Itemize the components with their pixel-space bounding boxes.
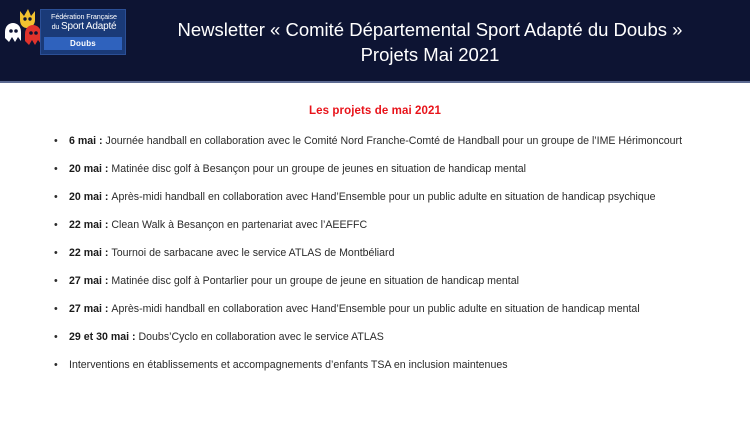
- list-item: • 20 mai : Matinée disc golf à Besançon …: [48, 155, 738, 183]
- logo-sport-adapte-line: du Sport Adapté: [44, 21, 124, 33]
- list-item: • Interventions en établissements et acc…: [48, 351, 738, 379]
- list-item-text: Matinée disc golf à Besançon pour un gro…: [111, 163, 526, 175]
- bullet-marker-icon: •: [54, 155, 62, 183]
- list-item-text: Journée handball en collaboration avec l…: [106, 135, 683, 147]
- bullet-marker-icon: •: [54, 351, 62, 379]
- list-item-separator: :: [129, 331, 138, 343]
- list-item: • 22 mai : Tournoi de sarbacane avec le …: [48, 239, 738, 267]
- list-item-date: 6 mai: [69, 135, 96, 147]
- list-item-text: Matinée disc golf à Pontarlier pour un g…: [111, 275, 519, 287]
- list-item-separator: :: [102, 163, 111, 175]
- list-item-date: 29 et 30 mai: [69, 331, 129, 343]
- list-item-separator: :: [102, 191, 111, 203]
- page-title: Newsletter « Comité Départemental Sport …: [130, 17, 730, 67]
- page-title-line-2: Projets Mai 2021: [130, 42, 730, 67]
- logo-line2-main: Sport Adapté: [61, 21, 116, 32]
- list-item-text: Tournoi de sarbacane avec le service ATL…: [111, 247, 394, 259]
- bullet-marker-icon: •: [54, 267, 62, 295]
- list-item: • 20 mai : Après-midi handball en collab…: [48, 183, 738, 211]
- content-area: Les projets de mai 2021 • 6 mai : Journé…: [0, 83, 750, 422]
- logo-region-label: Doubs: [44, 38, 122, 49]
- bullet-marker-icon: •: [54, 323, 62, 351]
- bullet-marker-icon: •: [54, 239, 62, 267]
- list-item-text: Après-midi handball en collaboration ave…: [111, 303, 639, 315]
- logo-federation-line: Fédération Française: [44, 12, 124, 21]
- list-item-date: 22 mai: [69, 247, 102, 259]
- projects-list: • 6 mai : Journée handball en collaborat…: [48, 127, 738, 379]
- list-item: • 29 et 30 mai : Doubs’Cyclo en collabor…: [48, 323, 738, 351]
- list-item-text: Doubs’Cyclo en collaboration avec le ser…: [139, 331, 384, 343]
- logo-line2-prefix: du: [52, 22, 61, 31]
- list-item-text: Interventions en établissements et accom…: [69, 359, 508, 371]
- list-item: • 6 mai : Journée handball en collaborat…: [48, 127, 738, 155]
- bullet-marker-icon: •: [54, 127, 62, 155]
- list-item-separator: :: [102, 303, 111, 315]
- list-item-date: 27 mai: [69, 275, 102, 287]
- list-item-separator: :: [102, 247, 111, 259]
- list-item: • 27 mai : Matinée disc golf à Pontarlie…: [48, 267, 738, 295]
- bullet-marker-icon: •: [54, 211, 62, 239]
- list-item-separator: :: [96, 135, 105, 147]
- list-item-text: Clean Walk à Besançon en partenariat ave…: [111, 219, 367, 231]
- list-item: • 27 mai : Après-midi handball en collab…: [48, 295, 738, 323]
- bullet-marker-icon: •: [54, 183, 62, 211]
- list-item-date: 20 mai: [69, 163, 102, 175]
- page-title-line-1: Newsletter « Comité Départemental Sport …: [130, 17, 730, 42]
- list-item-date: 20 mai: [69, 191, 102, 203]
- federation-logo: Fédération Française du Sport Adapté Dou…: [2, 4, 126, 59]
- list-item: • 22 mai : Clean Walk à Besançon en part…: [48, 211, 738, 239]
- newsletter-slide: Fédération Française du Sport Adapté Dou…: [0, 0, 750, 422]
- list-item-text: Après-midi handball en collaboration ave…: [111, 191, 655, 203]
- section-heading: Les projets de mai 2021: [0, 105, 750, 117]
- bullet-marker-icon: •: [54, 295, 62, 323]
- list-item-separator: :: [102, 275, 111, 287]
- list-item-date: 27 mai: [69, 303, 102, 315]
- list-item-separator: :: [102, 219, 111, 231]
- list-item-date: 22 mai: [69, 219, 102, 231]
